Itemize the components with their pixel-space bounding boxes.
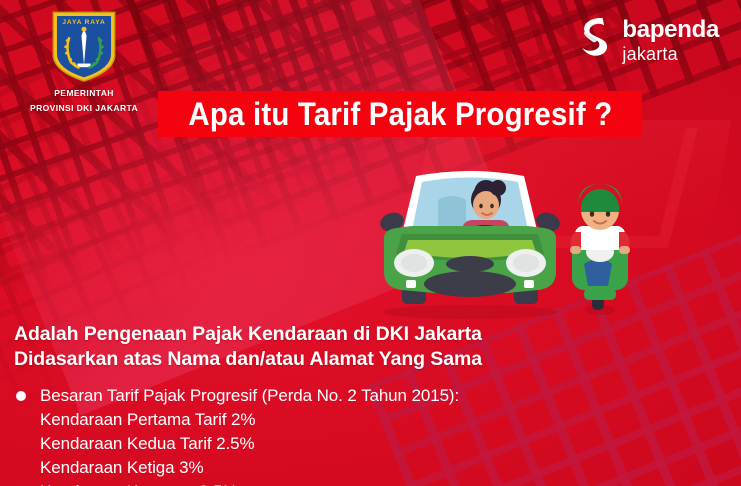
tax-rate-list: Besaran Tarif Pajak Progresif (Perda No.… — [16, 384, 459, 486]
government-name-line1: PEMERINTAH — [14, 88, 154, 99]
government-identity-block: JAYA RAYA PEMERINTAH PROVINSI DKI — [14, 8, 154, 114]
rate-line-fourth-vehicle: Kendaraan Keempat 3.5% — [40, 480, 459, 486]
bullet-heading: Besaran Tarif Pajak Progresif (Perda No.… — [40, 384, 459, 408]
subtitle-line-1: Adalah Pengenaan Pajak Kendaraan di DKI … — [14, 322, 482, 347]
rate-line-first-vehicle: Kendaraan Pertama Tarif 2% — [40, 408, 459, 432]
rate-line-third-vehicle: Kendaraan Ketiga 3% — [40, 456, 459, 480]
subtitle-block: Adalah Pengenaan Pajak Kendaraan di DKI … — [14, 322, 482, 372]
svg-text:JAYA RAYA: JAYA RAYA — [62, 19, 105, 26]
dki-jakarta-emblem: JAYA RAYA — [47, 8, 121, 84]
government-name-line2: PROVINSI DKI JAKARTA — [14, 103, 154, 114]
bapenda-brand-block: bapenda jakarta — [577, 16, 719, 64]
vehicle-illustration — [378, 160, 678, 320]
bapenda-name: bapenda — [622, 18, 719, 42]
bapenda-ribbon-logo-icon — [577, 16, 611, 64]
green-car-front-icon — [378, 171, 562, 319]
bapenda-city: jakarta — [622, 45, 719, 63]
page-title: Apa itu Tarif Pajak Progresif ? — [188, 98, 612, 130]
scooter-rider-icon — [570, 184, 630, 315]
list-item: Besaran Tarif Pajak Progresif (Perda No.… — [16, 384, 459, 486]
title-banner: Apa itu Tarif Pajak Progresif ? — [158, 91, 642, 137]
infographic-poster: JAYA RAYA PEMERINTAH PROVINSI DKI — [0, 0, 741, 486]
bullet-dot-icon — [16, 391, 26, 401]
rate-line-second-vehicle: Kendaraan Kedua Tarif 2.5% — [40, 432, 459, 456]
subtitle-line-2: Didasarkan atas Nama dan/atau Alamat Yan… — [14, 347, 482, 372]
bullet-text-block: Besaran Tarif Pajak Progresif (Perda No.… — [40, 384, 459, 486]
